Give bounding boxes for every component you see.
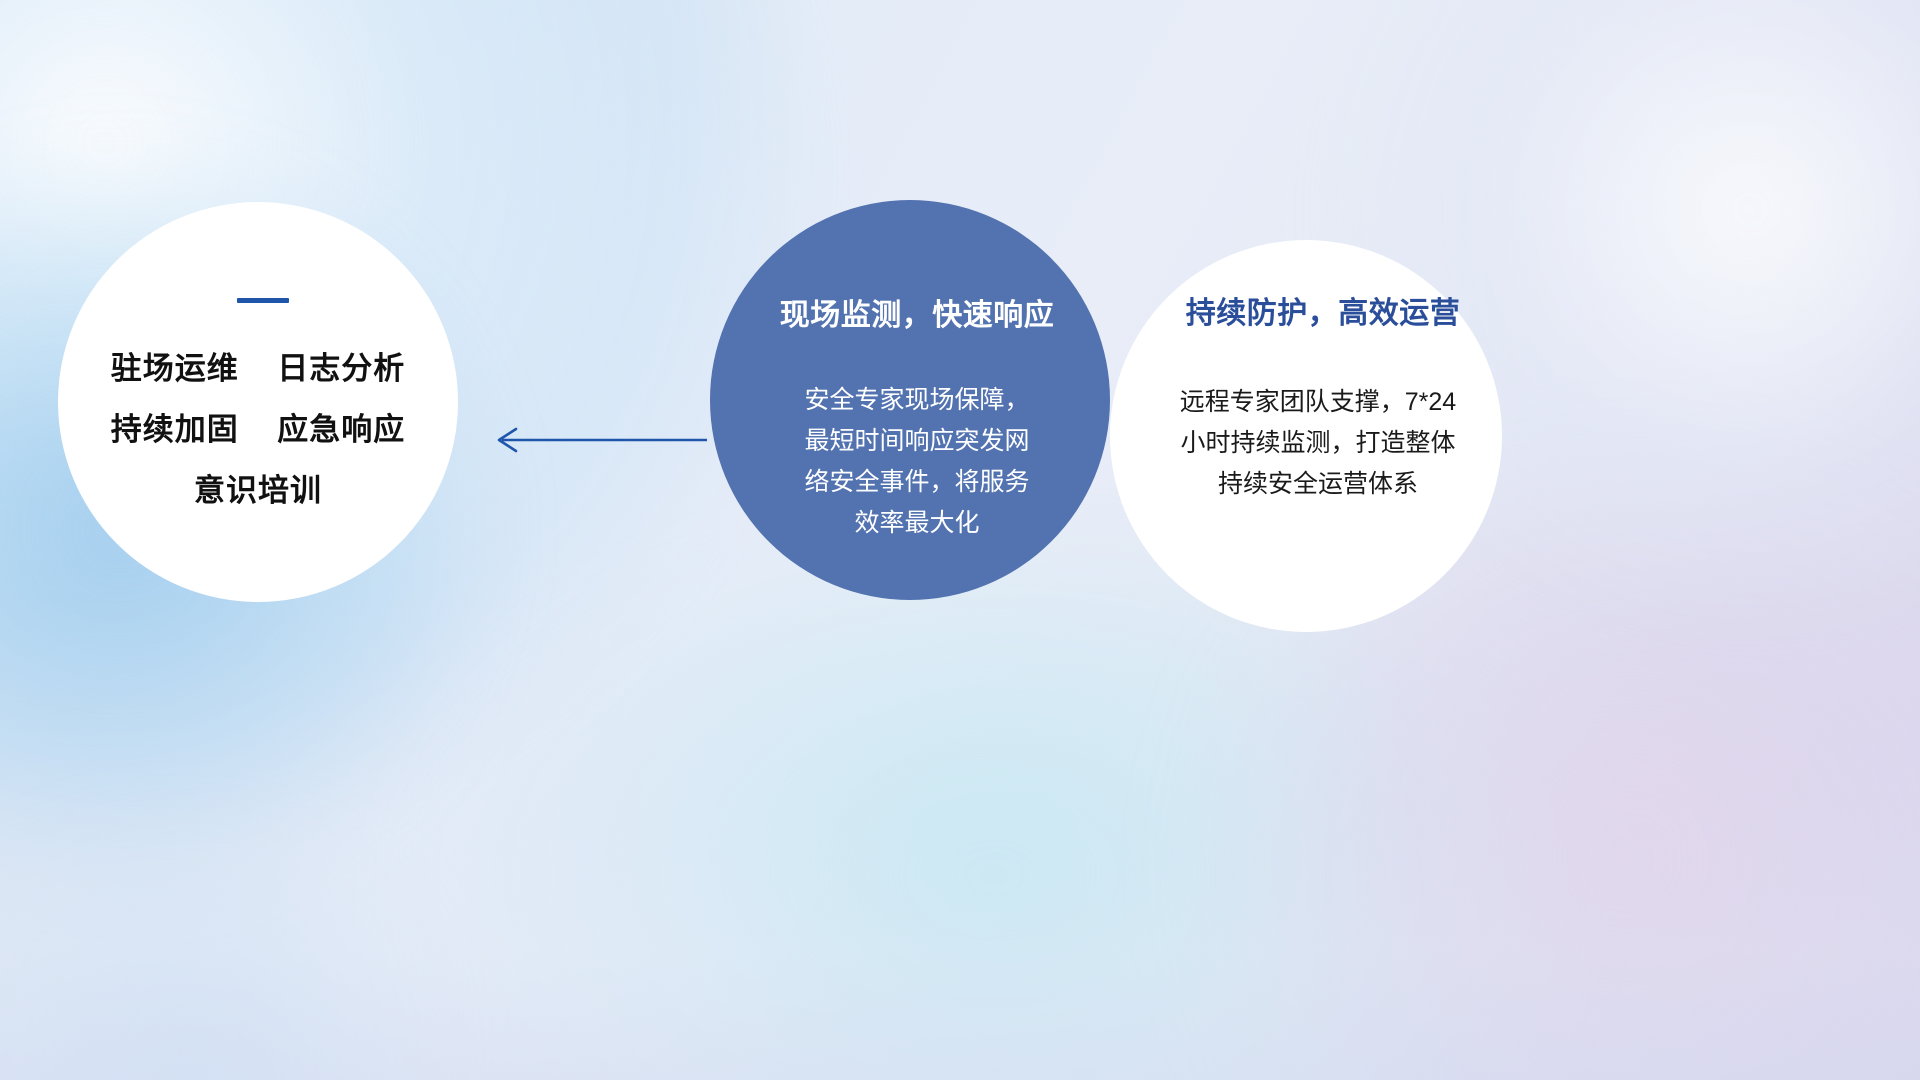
middle-circle-content: 现场监测，快速响应 安全专家现场保障， 最短时间响应突发网 络安全事件，将服务 …	[710, 200, 1110, 600]
slide-canvas: 驻场运维 日志分析 持续加固 应急响应 意识培训 现场监测，快速响应 安全专家现…	[0, 0, 1920, 1080]
right-circle-content: 持续防护，高效运营 远程专家团队支撑，7*24 小时持续监测，打造整体 持续安全…	[1110, 240, 1502, 632]
left-divider-line	[237, 298, 289, 303]
arrow-icon	[488, 418, 708, 462]
left-capability-line-2: 持续加固 应急响应	[111, 414, 405, 445]
middle-body-line-2: 最短时间响应突发网	[783, 421, 1051, 462]
middle-body-line-4: 效率最大化	[783, 503, 1051, 544]
right-body-line-1: 远程专家团队支撑，7*24	[1143, 382, 1493, 423]
right-circle-body: 远程专家团队支撑，7*24 小时持续监测，打造整体 持续安全运营体系	[1143, 382, 1493, 505]
right-circle-title: 持续防护，高效运营	[1186, 288, 1461, 332]
right-body-line-2: 小时持续监测，打造整体	[1143, 423, 1493, 464]
middle-circle-title: 现场监测，快速响应	[780, 290, 1055, 334]
middle-body-line-1: 安全专家现场保障，	[783, 380, 1051, 421]
connector-arrow	[488, 418, 708, 462]
left-capability-line-1: 驻场运维 日志分析	[111, 353, 405, 384]
left-circle-content: 驻场运维 日志分析 持续加固 应急响应 意识培训	[58, 202, 458, 602]
left-capability-line-3: 意识培训	[194, 475, 322, 506]
middle-body-line-3: 络安全事件，将服务	[783, 462, 1051, 503]
middle-circle-body: 安全专家现场保障， 最短时间响应突发网 络安全事件，将服务 效率最大化	[783, 380, 1051, 544]
right-body-line-3: 持续安全运营体系	[1143, 464, 1493, 505]
